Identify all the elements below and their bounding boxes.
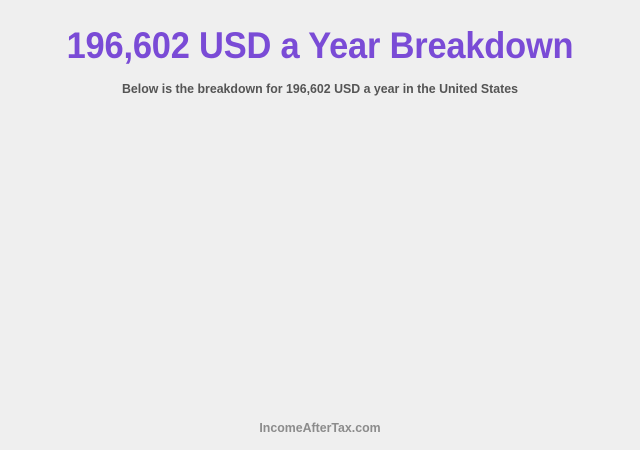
breakdown-content-area (0, 118, 640, 408)
page-title: 196,602 USD a Year Breakdown (22, 24, 617, 68)
breakdown-page: 196,602 USD a Year Breakdown Below is th… (0, 0, 640, 450)
site-name-label: IncomeAfterTax.com (16, 420, 624, 436)
page-header: 196,602 USD a Year Breakdown Below is th… (0, 0, 640, 97)
site-footer: IncomeAfterTax.com (0, 420, 640, 436)
page-subtitle: Below is the breakdown for 196,602 USD a… (16, 68, 624, 97)
